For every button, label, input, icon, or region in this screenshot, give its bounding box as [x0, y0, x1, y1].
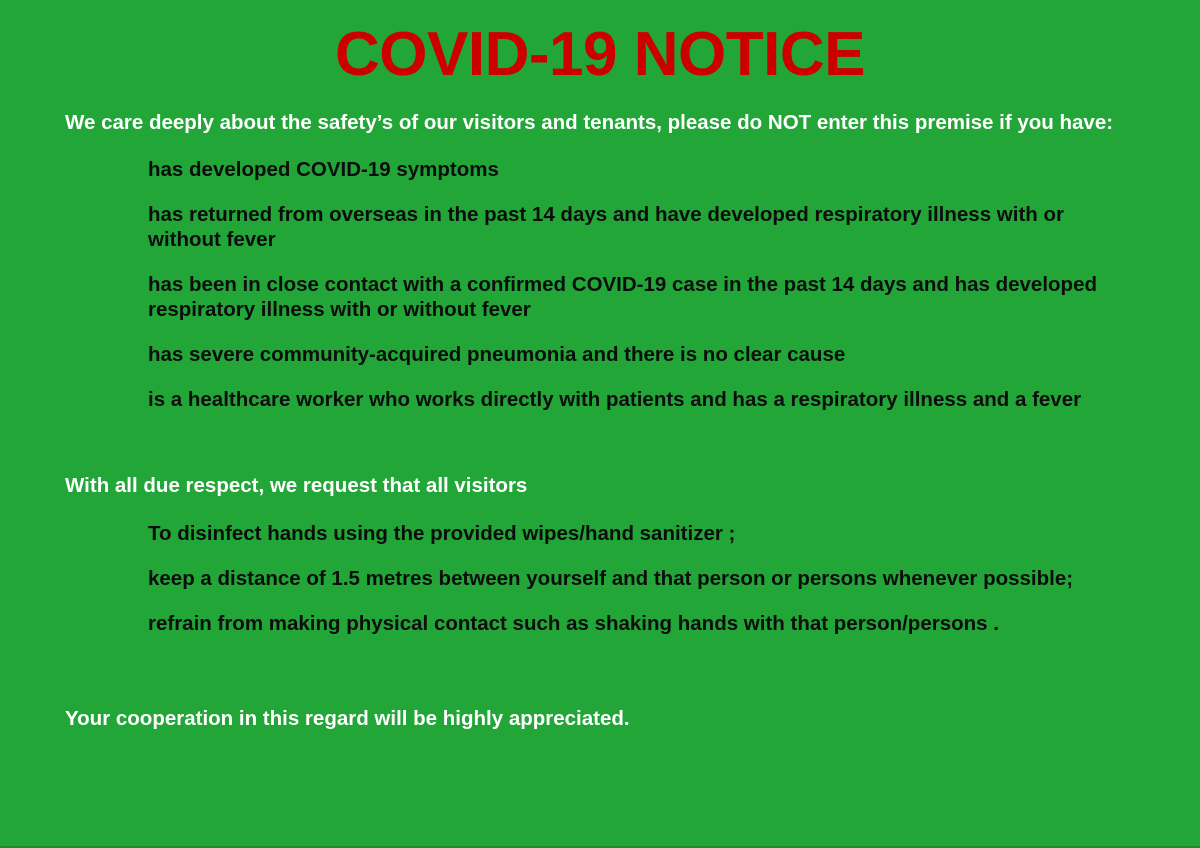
- list-item: is a healthcare worker who works directl…: [148, 387, 1130, 412]
- list-item: has returned from overseas in the past 1…: [148, 202, 1130, 252]
- page-title: COVID-19 NOTICE: [0, 0, 1200, 86]
- list-item: has been in close contact with a confirm…: [148, 272, 1130, 322]
- intro-paragraph: We care deeply about the safety’s of our…: [0, 86, 1200, 135]
- covid-notice-poster: COVID-19 NOTICE We care deeply about the…: [0, 0, 1200, 848]
- list-item: has severe community-acquired pneumonia …: [148, 342, 1130, 367]
- list-item: refrain from making physical contact suc…: [148, 611, 1100, 636]
- conditions-list: has developed COVID-19 symptoms has retu…: [0, 135, 1200, 412]
- list-item: has developed COVID-19 symptoms: [148, 157, 1130, 182]
- closing-paragraph: Your cooperation in this regard will be …: [0, 636, 1200, 731]
- list-item: To disinfect hands using the provided wi…: [148, 521, 1100, 546]
- list-item: keep a distance of 1.5 metres between yo…: [148, 566, 1100, 591]
- requests-list: To disinfect hands using the provided wi…: [0, 498, 1200, 636]
- request-section-heading: With all due respect, we request that al…: [0, 412, 1200, 498]
